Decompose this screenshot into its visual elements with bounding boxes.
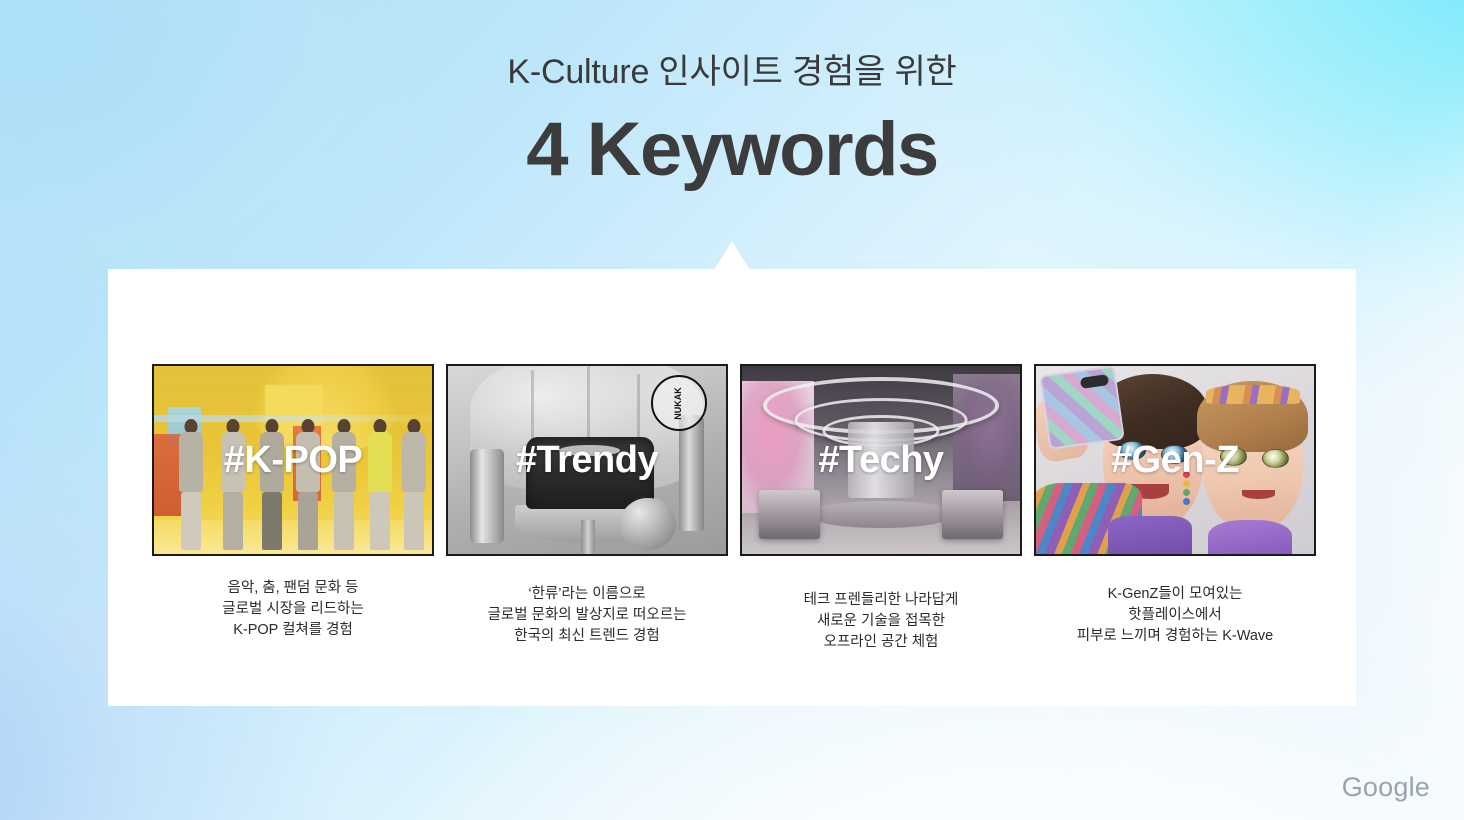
- caption-line: ‘한류’라는 이름으로: [446, 584, 728, 605]
- caption-line: 음악, 춤, 팬덤 문화 등: [152, 578, 434, 599]
- caption-line: K-GenZ들이 모여있는: [1034, 584, 1316, 605]
- page-title: 4 Keywords: [0, 108, 1464, 192]
- panel-notch-arrow: [714, 241, 750, 270]
- card-thumbnail-trendy[interactable]: NUKAK #Trendy: [446, 364, 728, 556]
- card-tag-label: #K-POP: [154, 366, 432, 554]
- card-thumbnail-genz[interactable]: #Gen-Z: [1034, 364, 1316, 556]
- caption-line: 글로벌 시장을 리드하는: [152, 599, 434, 620]
- caption-line: 오프라인 공간 체험: [740, 632, 1022, 653]
- slide-root: K-Culture 인사이트 경험을 위한 4 Keywords: [0, 0, 1464, 820]
- heading-subtitle: K-Culture 인사이트 경험을 위한: [0, 48, 1464, 96]
- keyword-card-kpop[interactable]: #K-POP 음악, 춤, 팬덤 문화 등 글로벌 시장을 리드하는 K-POP…: [152, 364, 434, 653]
- keyword-card-genz[interactable]: #Gen-Z K-GenZ들이 모여있는 핫플레이스에서 피부로 느끼며 경험하…: [1034, 364, 1316, 653]
- card-thumbnail-kpop[interactable]: #K-POP: [152, 364, 434, 556]
- keyword-card-list: #K-POP 음악, 춤, 팬덤 문화 등 글로벌 시장을 리드하는 K-POP…: [152, 364, 1316, 653]
- card-caption-genz: K-GenZ들이 모여있는 핫플레이스에서 피부로 느끼며 경험하는 K-Wav…: [1034, 584, 1316, 647]
- card-caption-kpop: 음악, 춤, 팬덤 문화 등 글로벌 시장을 리드하는 K-POP 컬쳐를 경험: [152, 578, 434, 641]
- caption-line: K-POP 컬쳐를 경험: [152, 620, 434, 641]
- caption-line: 피부로 느끼며 경험하는 K-Wave: [1034, 626, 1316, 647]
- caption-line: 새로운 기술을 접목한: [740, 611, 1022, 632]
- card-caption-trendy: ‘한류’라는 이름으로 글로벌 문화의 발상지로 떠오르는 한국의 최신 트렌드…: [446, 584, 728, 647]
- card-thumbnail-techy[interactable]: #Techy: [740, 364, 1022, 556]
- caption-line: 한국의 최신 트렌드 경험: [446, 626, 728, 647]
- card-caption-techy: 테크 프렌들리한 나라답게 새로운 기술을 접목한 오프라인 공간 체험: [740, 590, 1022, 653]
- caption-line: 테크 프렌들리한 나라답게: [740, 590, 1022, 611]
- keyword-card-techy[interactable]: #Techy 테크 프렌들리한 나라답게 새로운 기술을 접목한 오프라인 공간…: [740, 364, 1022, 653]
- caption-line: 글로벌 문화의 발상지로 떠오르는: [446, 605, 728, 626]
- card-tag-label: #Gen-Z: [1036, 366, 1314, 554]
- keyword-card-trendy[interactable]: NUKAK #Trendy ‘한류’라는 이름으로 글로벌 문화의 발상지로 떠…: [446, 364, 728, 653]
- card-tag-label: #Techy: [742, 366, 1020, 554]
- google-logo: Google: [1342, 772, 1430, 802]
- slide-heading: K-Culture 인사이트 경험을 위한 4 Keywords: [0, 48, 1464, 192]
- card-tag-label: #Trendy: [448, 366, 726, 554]
- caption-line: 핫플레이스에서: [1034, 605, 1316, 626]
